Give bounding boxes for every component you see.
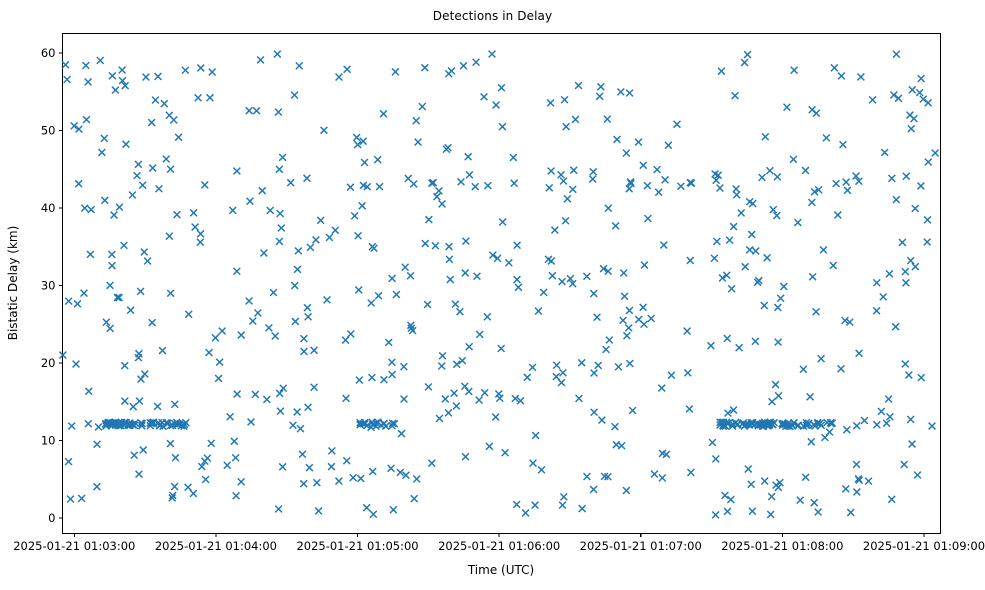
data-point-marker [831,64,838,71]
data-point-marker [134,172,141,179]
data-point-marker [111,212,118,219]
data-point-marker [893,196,900,203]
data-point-marker [834,212,841,219]
data-point-marker [140,447,147,454]
data-point-marker [466,171,473,178]
data-point-marker [655,189,662,196]
data-point-marker [207,94,214,101]
data-point-marker [902,361,909,368]
data-point-marker [761,478,768,485]
data-point-marker [770,206,777,213]
data-point-marker [532,432,539,439]
data-point-marker [549,272,556,279]
data-point-marker [276,238,283,245]
data-point-marker [620,317,627,324]
data-point-marker [901,461,908,468]
data-point-marker [381,420,388,427]
data-point-marker [381,376,388,383]
data-point-marker [775,339,782,346]
y-tick-label: 50 [41,123,56,137]
data-point-marker [684,328,691,335]
data-point-marker [843,179,850,186]
data-point-marker [909,86,916,93]
data-point-marker [808,438,815,445]
data-point-marker [746,198,753,205]
data-point-marker [620,270,627,277]
data-point-marker [498,84,505,91]
data-point-marker [398,430,405,437]
x-tick-label: 2025-01-21 01:09:00 [863,539,985,553]
data-point-marker [167,290,174,297]
data-point-marker [73,361,80,368]
data-point-marker [108,251,115,258]
data-point-marker [233,268,240,275]
data-point-marker [300,480,307,487]
data-point-marker [116,204,123,211]
data-point-marker [215,375,222,382]
data-point-marker [212,334,219,341]
data-point-marker [473,59,480,66]
data-point-marker [790,156,797,163]
data-point-marker [907,416,914,423]
data-point-marker [640,162,647,169]
data-point-marker [645,215,652,222]
data-point-marker [844,187,851,194]
data-point-marker [548,168,555,175]
data-point-marker [791,67,798,74]
data-point-marker [711,255,718,262]
data-point-marker [461,383,468,390]
data-point-marker [718,68,725,75]
data-point-marker [726,237,733,244]
data-point-marker [621,293,628,300]
data-point-marker [759,174,766,181]
data-point-marker [369,468,376,475]
data-point-marker [419,103,426,110]
data-point-marker [248,419,255,426]
data-point-marker [873,421,880,428]
data-point-marker [635,316,642,323]
data-point-marker [612,222,619,229]
data-point-marker [662,176,669,183]
data-point-marker [411,495,418,502]
data-point-marker [644,182,651,189]
data-point-marker [623,150,630,157]
data-point-marker [300,335,307,342]
data-point-marker [635,139,642,146]
data-point-marker [802,167,809,174]
data-point-marker [121,242,128,249]
data-point-marker [315,508,322,515]
data-point-marker [135,161,142,168]
data-point-marker [929,423,936,430]
y-axis-label: Bistatic Delay (km) [6,226,20,341]
x-axis-ticks: 2025-01-21 01:03:002025-01-21 01:04:0020… [13,534,985,554]
data-point-marker [109,72,116,79]
data-point-marker [591,370,598,377]
data-point-marker [75,180,82,187]
data-point-marker [838,365,845,372]
data-point-marker [815,509,822,516]
data-point-marker [883,420,890,427]
data-point-marker [784,104,791,111]
data-point-marker [465,153,472,160]
data-point-marker [773,482,780,489]
data-point-marker [445,409,452,416]
data-point-marker [231,438,238,445]
data-point-marker [306,464,313,471]
data-point-marker [853,489,860,496]
data-point-marker [843,426,850,433]
data-point-marker [305,313,312,320]
data-point-marker [410,181,417,188]
data-point-marker [295,247,302,254]
data-point-marker [925,99,932,106]
data-point-marker [853,461,860,468]
data-point-marker [313,479,320,486]
data-point-marker [746,246,753,253]
data-point-marker [451,390,458,397]
data-point-marker [752,338,759,345]
data-point-marker [767,511,774,518]
data-point-marker [82,62,89,69]
data-point-marker [932,150,939,157]
data-point-marker [659,475,666,482]
data-point-marker [540,289,547,296]
data-point-marker [107,282,114,289]
data-point-marker [499,219,506,226]
data-point-marker [532,502,539,509]
data-point-marker [465,388,472,395]
data-point-marker [712,456,719,463]
data-point-marker [219,328,226,335]
data-point-marker [925,159,932,166]
data-point-marker [156,185,163,192]
data-point-marker [493,102,500,109]
data-point-marker [626,307,633,314]
data-point-marker [510,154,517,161]
data-point-marker [446,256,453,263]
data-point-marker [484,313,491,320]
data-point-marker [560,369,567,376]
y-tick-label: 40 [41,201,56,215]
data-point-marker [590,168,597,175]
data-point-marker [453,361,460,368]
data-point-marker [492,414,499,421]
data-point-marker [290,422,297,429]
data-point-marker [651,471,658,478]
data-point-marker [296,62,303,69]
data-point-marker [294,266,301,273]
data-point-marker [909,441,916,448]
data-point-marker [873,307,880,314]
data-point-marker [768,493,775,500]
data-point-marker [629,407,636,414]
data-point-marker [167,166,174,173]
data-point-marker [363,504,370,511]
data-point-marker [434,193,441,200]
data-point-marker [393,291,400,298]
data-point-marker [167,440,174,447]
data-points-layer [59,51,938,519]
data-point-marker [820,246,827,253]
data-point-marker [888,175,895,182]
data-point-marker [878,408,885,415]
y-tick-label: 10 [41,433,56,447]
data-point-marker [149,165,156,172]
data-point-marker [328,447,335,454]
data-point-marker [748,231,755,238]
data-point-marker [291,92,298,99]
data-point-marker [774,304,781,311]
data-point-marker [522,510,529,517]
data-point-marker [355,287,362,294]
data-point-marker [359,202,366,209]
data-point-marker [489,51,496,58]
data-point-marker [304,175,311,182]
data-point-marker [457,308,464,315]
data-point-marker [255,310,262,317]
data-point-marker [263,396,270,403]
data-point-marker [484,182,491,189]
data-point-marker [97,57,104,64]
data-point-marker [355,232,362,239]
data-point-marker [261,250,268,257]
data-point-marker [741,59,748,66]
data-point-marker [606,337,613,344]
data-point-marker [912,205,919,212]
data-point-marker [351,212,358,219]
data-point-marker [131,452,138,459]
data-point-marker [780,283,787,290]
data-point-marker [742,263,749,270]
data-point-marker [505,259,512,266]
data-point-marker [413,476,420,483]
data-point-marker [155,73,162,80]
data-point-marker [589,176,596,183]
data-point-marker [313,236,320,243]
data-point-marker [94,441,101,448]
data-point-marker [626,90,633,97]
data-point-marker [136,471,143,478]
data-point-marker [436,187,443,194]
data-point-marker [148,119,155,126]
data-point-marker [99,149,106,156]
data-point-marker [476,331,483,338]
data-point-marker [374,156,381,163]
data-point-marker [392,68,399,75]
data-point-marker [762,133,769,140]
data-point-marker [881,149,888,156]
data-point-marker [407,272,414,279]
data-point-marker [811,499,818,506]
data-point-marker [103,319,110,326]
data-point-marker [172,454,179,461]
data-point-marker [353,134,360,141]
data-point-marker [152,97,159,104]
data-point-marker [822,434,829,441]
data-point-marker [369,374,376,381]
data-point-marker [857,74,864,81]
data-point-marker [466,343,473,350]
data-point-marker [809,273,816,280]
data-point-marker [617,88,624,95]
data-point-marker [267,207,274,214]
data-point-marker [234,391,241,398]
data-point-marker [81,205,88,212]
data-point-marker [136,398,143,405]
data-point-marker [380,110,387,117]
data-point-marker [736,344,743,351]
data-point-marker [561,96,568,103]
data-point-marker [347,331,354,338]
data-point-marker [452,301,459,308]
data-point-marker [553,373,560,380]
data-point-marker [892,323,899,330]
data-point-marker [890,92,897,99]
data-point-marker [686,406,693,413]
data-point-marker [272,333,279,340]
data-point-marker [224,462,231,469]
data-point-marker [292,318,299,325]
data-point-marker [535,308,542,315]
data-point-marker [474,273,481,280]
data-point-marker [594,314,601,321]
data-point-marker [603,346,610,353]
data-point-marker [85,388,92,395]
data-point-marker [773,212,780,219]
data-point-marker [143,74,150,81]
data-point-marker [270,289,277,296]
data-point-marker [356,377,363,384]
data-point-marker [605,205,612,212]
data-point-marker [294,409,301,416]
data-point-marker [562,217,569,224]
data-point-marker [559,278,566,285]
data-point-marker [197,239,204,246]
data-point-marker [677,183,684,190]
data-point-marker [197,65,204,72]
data-point-marker [343,395,350,402]
data-point-marker [85,79,92,86]
data-point-marker [712,511,719,518]
data-point-marker [389,275,396,282]
x-tick-label: 2025-01-21 01:07:00 [580,539,702,553]
data-point-marker [216,359,223,366]
data-point-marker [579,505,586,512]
data-point-marker [336,74,343,81]
data-point-marker [344,66,351,73]
data-point-marker [888,496,895,503]
data-point-marker [625,324,632,331]
data-point-marker [648,315,655,322]
data-point-marker [171,483,178,490]
data-point-marker [486,443,493,450]
data-point-marker [129,192,136,199]
data-point-marker [738,210,745,217]
data-point-marker [777,295,784,302]
data-point-marker [794,219,801,226]
data-point-marker [343,457,350,464]
data-point-marker [62,61,69,68]
data-point-marker [159,347,166,354]
y-tick-label: 20 [41,356,56,370]
data-point-marker [873,279,880,286]
data-point-marker [717,185,724,192]
data-point-marker [865,478,872,485]
data-point-marker [524,374,531,381]
data-point-marker [458,178,465,185]
data-point-marker [462,270,469,277]
data-point-marker [101,135,108,142]
data-point-marker [752,248,759,255]
data-point-marker [202,476,209,483]
data-point-marker [654,166,661,173]
data-point-marker [575,82,582,89]
data-point-marker [265,324,272,331]
data-point-marker [88,206,95,213]
data-point-marker [238,478,245,485]
data-point-marker [453,403,460,410]
data-point-marker [481,389,488,396]
data-point-marker [674,121,681,128]
data-point-marker [385,339,392,346]
data-point-marker [880,293,887,300]
data-point-marker [149,319,156,326]
data-point-marker [893,51,900,58]
data-point-marker [278,225,285,232]
data-point-marker [229,207,236,214]
data-point-marker [529,364,536,371]
data-point-marker [161,100,168,107]
data-point-marker [459,357,466,364]
data-point-marker [234,168,241,175]
data-point-marker [918,374,925,381]
data-point-marker [326,234,333,241]
data-point-marker [886,270,893,277]
data-point-marker [924,239,931,246]
data-point-marker [357,475,364,482]
data-point-marker [823,134,830,141]
data-point-marker [775,392,782,399]
x-axis-label: Time (UTC) [467,563,534,577]
data-point-marker [175,134,182,141]
data-point-marker [559,502,566,509]
data-point-marker [166,112,173,119]
data-point-marker [361,159,368,166]
data-point-marker [65,298,72,305]
data-point-marker [415,139,422,146]
data-point-marker [570,167,577,174]
data-point-marker [135,354,142,361]
data-point-marker [727,496,734,503]
data-point-marker [347,184,354,191]
data-point-marker [192,224,199,231]
data-point-marker [201,182,208,189]
data-point-marker [232,454,239,461]
data-point-marker [724,335,731,342]
data-point-marker [912,263,919,270]
data-point-marker [908,125,915,132]
data-point-marker [599,417,606,424]
data-point-marker [641,262,648,269]
data-point-marker [247,198,254,205]
data-point-marker [400,363,407,370]
data-point-marker [174,211,181,218]
data-point-marker [439,352,446,359]
data-point-marker [918,183,925,190]
data-point-marker [299,451,306,458]
